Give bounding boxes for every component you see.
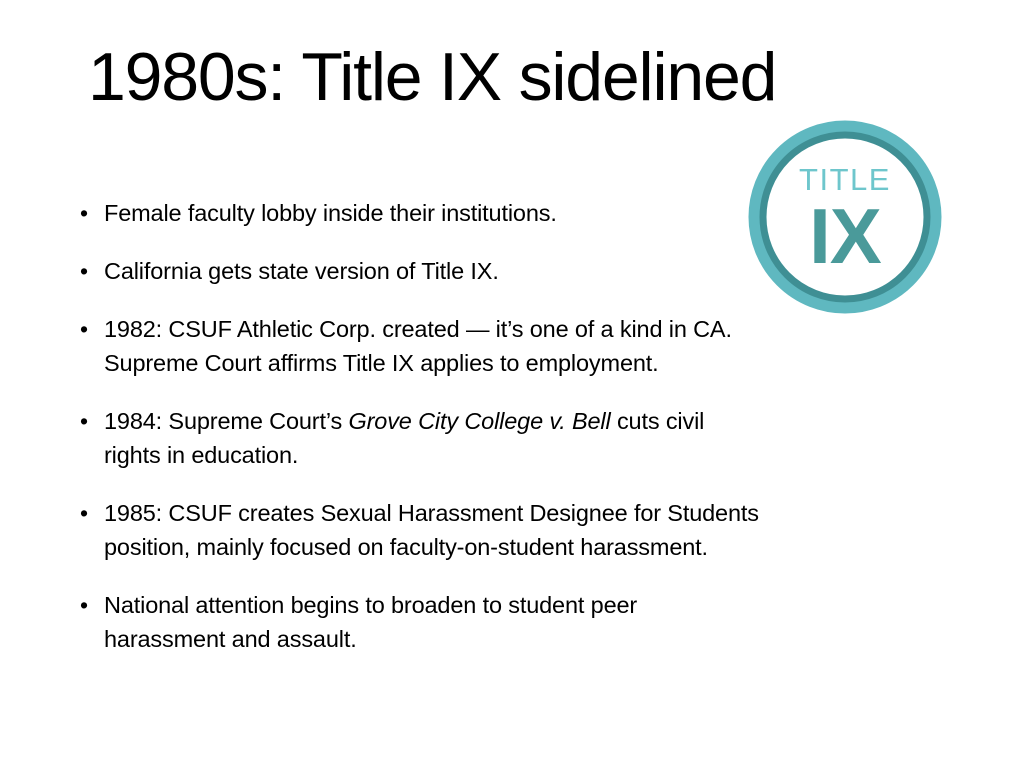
bullet-marker: • [76, 588, 104, 622]
bullet-text: California gets state version of Title I… [104, 254, 936, 288]
bullet-line: harassment and assault. [104, 626, 357, 652]
bullet-marker: • [76, 404, 104, 438]
list-item: • National attention begins to broaden t… [76, 588, 936, 656]
bullet-marker: • [76, 196, 104, 230]
bullet-line: Female faculty lobby inside their instit… [104, 200, 557, 226]
list-item: • Female faculty lobby inside their inst… [76, 196, 936, 230]
bullet-text: National attention begins to broaden to … [104, 588, 936, 656]
bullet-text: Female faculty lobby inside their instit… [104, 196, 936, 230]
bullet-line: California gets state version of Title I… [104, 258, 499, 284]
case-name: Grove City College v. Bell [348, 408, 610, 434]
list-item: • 1984: Supreme Court’s Grove City Colle… [76, 404, 936, 472]
bullet-line: rights in education. [104, 442, 298, 468]
bullet-line: 1985: CSUF creates Sexual Harassment Des… [104, 500, 759, 526]
bullet-line: 1984: Supreme Court’s [104, 408, 348, 434]
bullet-line: 1982: CSUF Athletic Corp. created — it’s… [104, 316, 732, 342]
presentation-slide: 1980s: Title IX sidelined TITLE IX • Fem… [0, 0, 1024, 768]
bullet-list: • Female faculty lobby inside their inst… [76, 196, 936, 656]
bullet-marker: • [76, 254, 104, 288]
list-item: • 1982: CSUF Athletic Corp. created — it… [76, 312, 936, 380]
bullet-line: National attention begins to broaden to … [104, 592, 637, 618]
list-item: • 1985: CSUF creates Sexual Harassment D… [76, 496, 936, 564]
bullet-text: 1984: Supreme Court’s Grove City College… [104, 404, 936, 472]
bullet-text: 1982: CSUF Athletic Corp. created — it’s… [104, 312, 936, 380]
slide-title: 1980s: Title IX sidelined [88, 42, 948, 113]
list-item: • California gets state version of Title… [76, 254, 936, 288]
bullet-line: position, mainly focused on faculty-on-s… [104, 534, 708, 560]
bullet-line: Supreme Court affirms Title IX applies t… [104, 350, 659, 376]
bullet-text: 1985: CSUF creates Sexual Harassment Des… [104, 496, 936, 564]
bullet-marker: • [76, 496, 104, 530]
bullet-marker: • [76, 312, 104, 346]
bullet-line: cuts civil [611, 408, 705, 434]
